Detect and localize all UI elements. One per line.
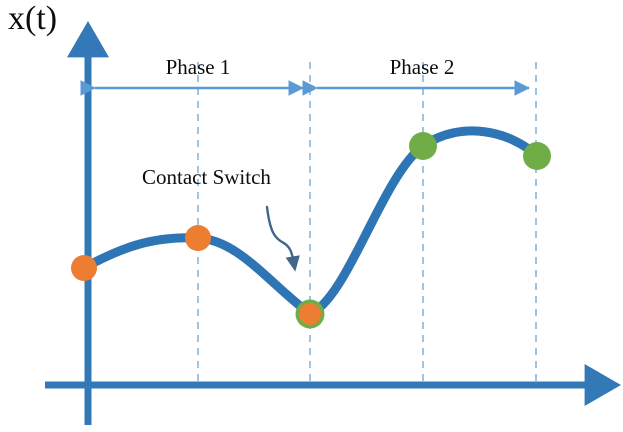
start-point-marker: [71, 255, 97, 281]
phase2-peak-point-marker: [409, 132, 437, 160]
end-point-marker: [523, 142, 551, 170]
phase-1-label: Phase 1: [133, 57, 263, 78]
callout-arrow-path: [267, 207, 294, 264]
figure-canvas: x(t) Phase 1 Phase 2 Contact Switch: [0, 0, 623, 432]
phase-2-label: Phase 2: [357, 57, 487, 78]
contact-switch-callout-arrow: [267, 207, 294, 264]
contact-switch-point-marker: [299, 303, 321, 325]
contact-switch-label: Contact Switch: [142, 167, 271, 188]
y-axis-label: x(t): [8, 2, 57, 36]
phase1-mid-point-marker: [185, 225, 211, 251]
figure-svg: [0, 0, 623, 432]
axes: [45, 42, 600, 425]
